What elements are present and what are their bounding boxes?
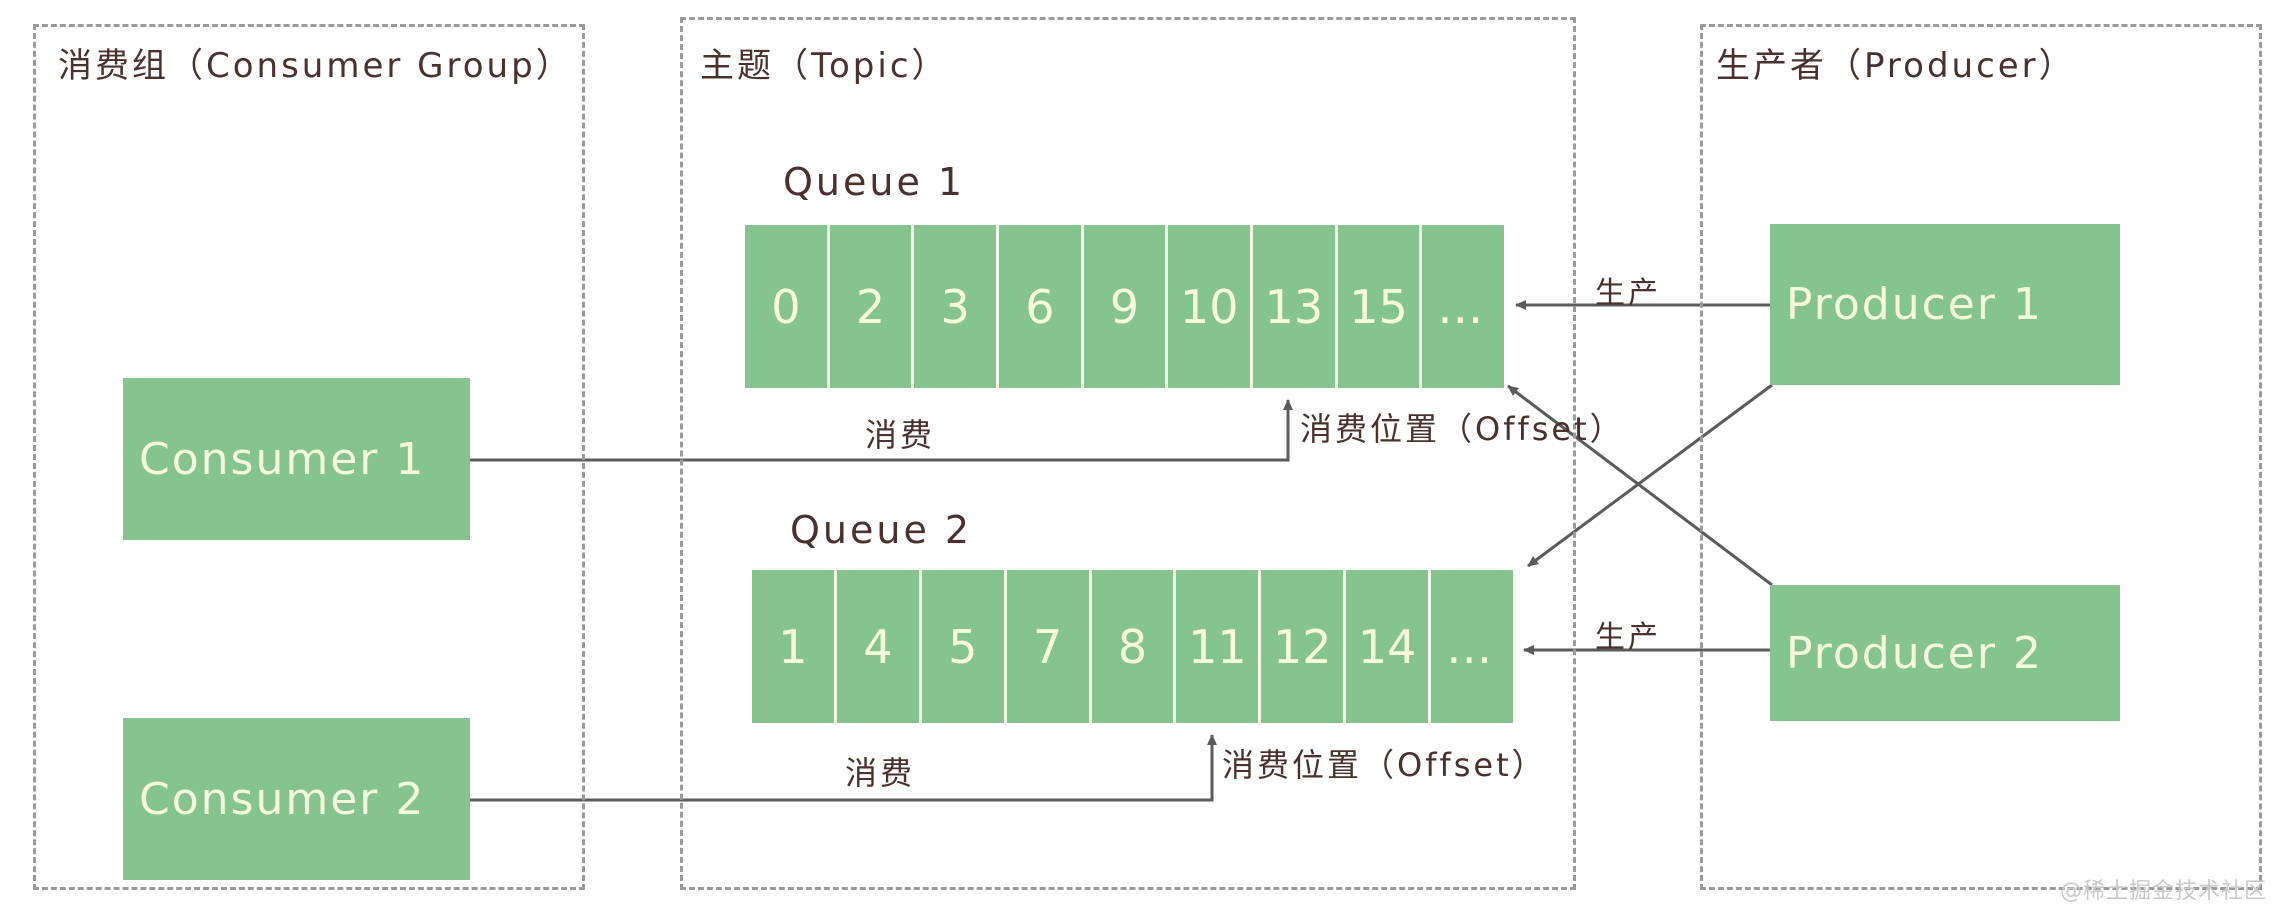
- queue-1-cell[interactable]: 15: [1338, 225, 1420, 388]
- consumer-2-label: Consumer 2: [123, 774, 425, 825]
- queue-2-strip: 1 4 5 7 8 11 12 14 …: [752, 570, 1513, 723]
- producer-2-box[interactable]: Producer 2: [1770, 585, 2120, 721]
- queue-1-cell[interactable]: 6: [999, 225, 1081, 388]
- queue-2-cell[interactable]: 12: [1261, 570, 1343, 723]
- watermark: @稀土掘金技术社区: [2060, 873, 2267, 905]
- queue-2-offset-label: 消费位置（Offset）: [1222, 740, 1547, 786]
- producer-1-label: Producer 1: [1770, 279, 2043, 330]
- queue-2-cell-ellipsis[interactable]: …: [1431, 570, 1513, 723]
- queue-1-cell[interactable]: 2: [830, 225, 912, 388]
- producer-title: 生产者（Producer）: [1716, 38, 2076, 87]
- queue-2-consume-label: 消费: [845, 748, 915, 794]
- produce-label-1: 生产: [1595, 268, 1661, 312]
- queue-2-title: Queue 2: [790, 508, 972, 552]
- consumer-1-label: Consumer 1: [123, 434, 425, 485]
- queue-1-cell[interactable]: 3: [914, 225, 996, 388]
- queue-1-cell[interactable]: 13: [1253, 225, 1335, 388]
- produce-label-2: 生产: [1595, 612, 1661, 656]
- queue-2-cell[interactable]: 1: [752, 570, 834, 723]
- producer-2-label: Producer 2: [1770, 628, 2043, 679]
- queue-1-title: Queue 1: [783, 160, 965, 204]
- queue-2-cell[interactable]: 4: [837, 570, 919, 723]
- queue-2-cell[interactable]: 14: [1346, 570, 1428, 723]
- consumer-1-box[interactable]: Consumer 1: [123, 378, 470, 540]
- producer-1-box[interactable]: Producer 1: [1770, 224, 2120, 385]
- consumer-2-box[interactable]: Consumer 2: [123, 718, 470, 880]
- queue-2-cell[interactable]: 7: [1007, 570, 1089, 723]
- consumer-group-title: 消费组（Consumer Group）: [58, 38, 573, 87]
- queue-1-offset-label: 消费位置（Offset）: [1300, 404, 1625, 450]
- queue-1-cell[interactable]: 9: [1084, 225, 1166, 388]
- topic-title: 主题（Topic）: [700, 38, 949, 87]
- queue-1-consume-label: 消费: [865, 410, 935, 456]
- queue-1-cell[interactable]: 0: [745, 225, 827, 388]
- producer-container: [1700, 24, 2262, 890]
- queue-2-cell[interactable]: 11: [1176, 570, 1258, 723]
- diagram-canvas: 消费组（Consumer Group） Consumer 1 Consumer …: [0, 0, 2283, 913]
- queue-2-cell[interactable]: 8: [1092, 570, 1174, 723]
- queue-1-cell[interactable]: 10: [1168, 225, 1250, 388]
- queue-2-cell[interactable]: 5: [922, 570, 1004, 723]
- queue-1-strip: 0 2 3 6 9 10 13 15 …: [745, 225, 1504, 388]
- queue-1-cell-ellipsis[interactable]: …: [1422, 225, 1504, 388]
